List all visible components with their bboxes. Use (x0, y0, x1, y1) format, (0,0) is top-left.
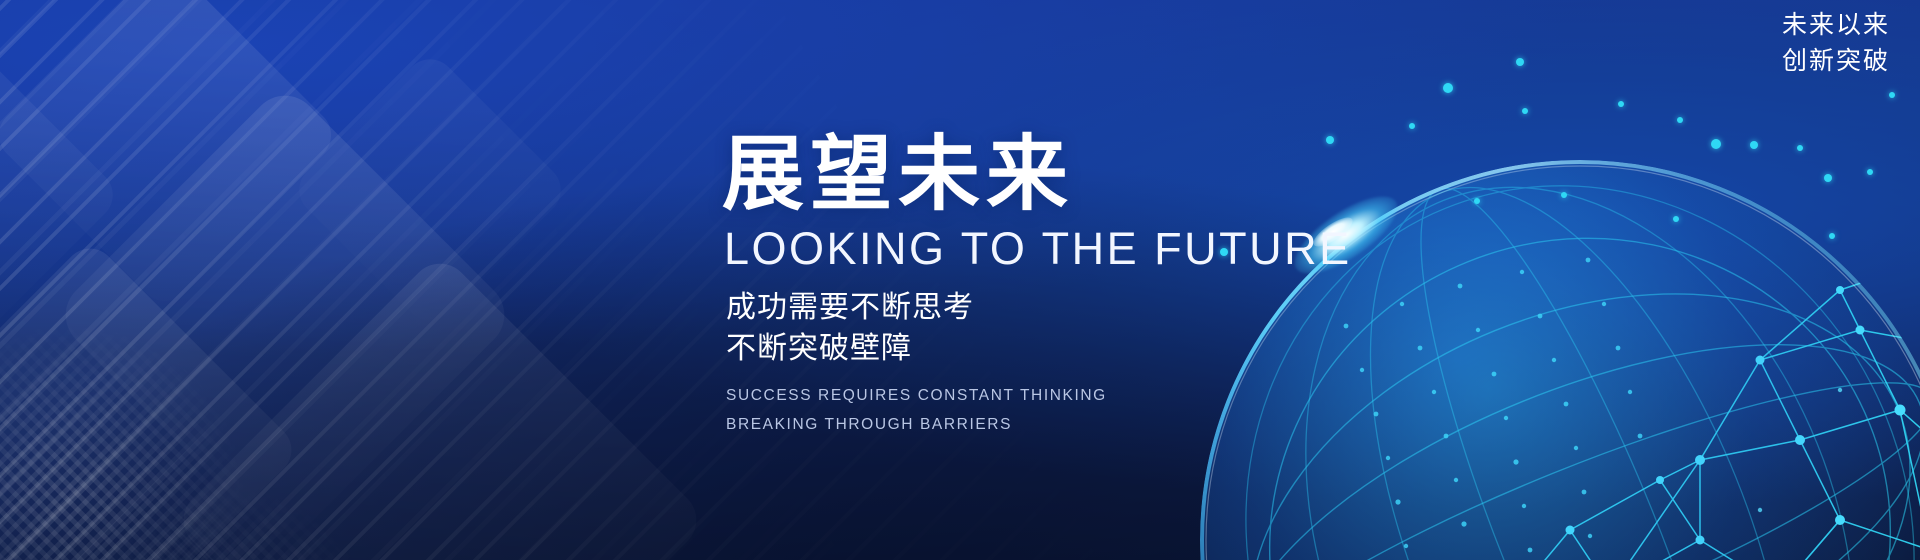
corner-tagline-line1: 未来以来 (1782, 8, 1890, 44)
particle-dot (1443, 83, 1453, 93)
decor-diamond (0, 238, 302, 560)
tagline-en-line1: SUCCESS REQUIRES CONSTANT THINKING (726, 382, 1422, 411)
decor-diamond (52, 82, 519, 549)
particle-dot (1618, 101, 1624, 107)
decor-diamond (0, 0, 342, 312)
tagline-cn-line1: 成功需要不断思考 (726, 288, 1422, 329)
decor-diamond (171, 251, 708, 560)
decor-halftone-grid (0, 390, 470, 560)
decor-diamond (0, 47, 123, 344)
particle-dot (1889, 92, 1895, 98)
tagline-cn-line2: 不断突破壁障 (726, 329, 1422, 370)
corner-tagline: 未来以来 创新突破 (1782, 8, 1890, 79)
tagline-cn: 成功需要不断思考 不断突破壁障 (726, 288, 1422, 370)
decor-diamond (289, 49, 572, 332)
particle-dot (1522, 108, 1528, 114)
page-title: 展望未来 (722, 132, 1422, 218)
headline-block: 展望未来 LOOKING TO THE FUTURE 成功需要不断思考 不断突破… (722, 132, 1422, 439)
tagline-en: SUCCESS REQUIRES CONSTANT THINKING BREAK… (726, 382, 1422, 439)
banner-root: 展望未来 LOOKING TO THE FUTURE 成功需要不断思考 不断突破… (0, 0, 1920, 560)
corner-tagline-line2: 创新突破 (1782, 44, 1890, 80)
particle-dot (1516, 58, 1524, 66)
tagline-en-line2: BREAKING THROUGH BARRIERS (726, 411, 1422, 440)
decor-halftone-grid (0, 203, 367, 560)
page-subtitle-en: LOOKING TO THE FUTURE (724, 224, 1422, 274)
